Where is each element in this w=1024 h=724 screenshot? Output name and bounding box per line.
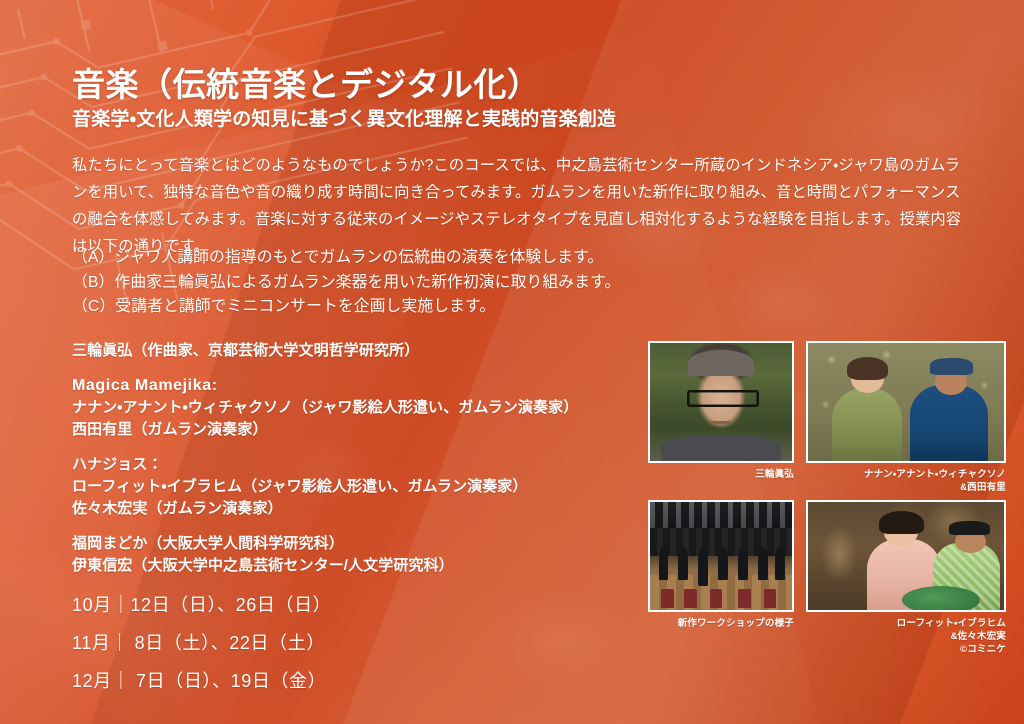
instructor-group-label: ハナジョス： bbox=[72, 454, 578, 476]
photo-frame bbox=[806, 341, 1006, 463]
instructor-name: 福岡まどか（大阪大学人間科学研究科） bbox=[72, 533, 578, 555]
decorative-shape bbox=[678, 547, 688, 579]
instructor-list: 三輪眞弘（作曲家、京都芸術大学文明哲学研究所） Magica Mamejika:… bbox=[72, 340, 578, 590]
workshop-photo-image bbox=[650, 502, 792, 610]
photo-caption: 新作ワークショップの様子 bbox=[648, 617, 794, 630]
course-description: 私たちにとって音楽とはどのようなものでしょうか?このコースでは、中之島芸術センタ… bbox=[72, 152, 962, 260]
course-content-list: （A）ジャワ人講師の指導のもとでガムランの伝統曲の演奏を体験します。 （B）作曲… bbox=[72, 246, 620, 320]
poster-content: 音楽（伝統音楽とデジタル化） 音楽学・文化人類学の知見に基づく異文化理解と実践的… bbox=[0, 0, 1024, 724]
decorative-shape bbox=[910, 385, 988, 461]
decorative-shape bbox=[661, 589, 674, 607]
decorative-shape bbox=[718, 547, 728, 579]
decorative-shape bbox=[738, 547, 748, 579]
photo-caption: ナナン・アナント・ウィチャクソノ&西田有里 bbox=[806, 468, 1006, 494]
decorative-shape bbox=[738, 589, 751, 607]
schedule-row: 11月｜ 8日（土）、22日（土） bbox=[72, 624, 331, 662]
decorative-shape bbox=[832, 388, 903, 461]
nanang-nishida-portrait-image bbox=[808, 343, 1004, 461]
instructor-name: 伊東信宏（大阪大学中之島芸術センター/人文学研究科） bbox=[72, 555, 578, 577]
instructor-name: 西田有里（ガムラン演奏家） bbox=[72, 419, 578, 441]
instructor-group: Magica Mamejika: ナナン・アナント・ウィチャクソノ（ジャワ影絵人… bbox=[72, 375, 578, 441]
schedule-row: 10月｜12日（日）、26日（日） bbox=[72, 586, 331, 624]
instructor-name: 佐々木宏実（ガムラン演奏家） bbox=[72, 498, 578, 520]
photo-cell-nanang-nishida-portrait: ナナン・アナント・ウィチャクソノ&西田有里 bbox=[806, 341, 1006, 494]
rofit-sasaki-portrait-image bbox=[808, 502, 1004, 610]
decorative-shape bbox=[659, 547, 669, 579]
instructor-name: ナナン・アナント・ウィチャクソノ（ジャワ影絵人形遣い、ガムラン演奏家） bbox=[72, 397, 578, 419]
page-subtitle: 音楽学・文化人類学の知見に基づく異文化理解と実践的音楽創造 bbox=[72, 104, 616, 131]
decorative-shape bbox=[684, 589, 697, 607]
decorative-shape bbox=[930, 358, 973, 375]
photo-cell-rofit-sasaki-portrait: ローフィット・イブラヒム&佐々木宏実©コミニケ bbox=[806, 500, 1006, 656]
decorative-shape bbox=[775, 547, 785, 579]
miwa-masahiro-portrait-image bbox=[650, 343, 792, 461]
decorative-shape bbox=[698, 547, 708, 586]
photo-frame bbox=[648, 500, 794, 612]
page-title: 音楽（伝統音楽とデジタル化） bbox=[72, 58, 540, 106]
decorative-shape bbox=[758, 547, 768, 579]
decorative-shape bbox=[902, 586, 980, 612]
photo-frame bbox=[648, 341, 794, 463]
photo-cell-miwa-masahiro-portrait: 三輪眞弘 bbox=[648, 341, 794, 494]
list-item: （C）受講者と講師でミニコンサートを企画し実施します。 bbox=[72, 295, 620, 320]
instructor-group-label: Magica Mamejika: bbox=[72, 375, 578, 397]
instructor-group: 三輪眞弘（作曲家、京都芸術大学文明哲学研究所） bbox=[72, 340, 578, 362]
photo-grid: 三輪眞弘 ナナン・アナント・ウィチャクソノ&西田有里 bbox=[648, 341, 1006, 656]
instructor-group: ハナジョス： ローフィット・イブラヒム（ジャワ影絵人形遣い、ガムラン演奏家） 佐… bbox=[72, 454, 578, 520]
decorative-shape bbox=[879, 511, 924, 535]
list-item: （A）ジャワ人講師の指導のもとでガムランの伝統曲の演奏を体験します。 bbox=[72, 246, 620, 271]
decorative-shape bbox=[650, 502, 792, 530]
decorative-shape bbox=[688, 350, 753, 376]
photo-caption: ローフィット・イブラヒム&佐々木宏実©コミニケ bbox=[806, 617, 1006, 656]
decorative-shape bbox=[764, 589, 777, 607]
decorative-shape bbox=[949, 521, 990, 535]
photo-caption: 三輪眞弘 bbox=[648, 468, 794, 481]
schedule-row: 12月｜ 7日（日）、19日（金） bbox=[72, 662, 331, 700]
instructor-group: 福岡まどか（大阪大学人間科学研究科） 伊東信宏（大阪大学中之島芸術センター/人文… bbox=[72, 533, 578, 577]
decorative-shape bbox=[710, 589, 723, 607]
schedule-list: 10月｜12日（日）、26日（日） 11月｜ 8日（土）、22日（土） 12月｜… bbox=[72, 586, 331, 700]
photo-cell-workshop-photo: 新作ワークショップの様子 bbox=[648, 500, 794, 656]
photo-frame bbox=[806, 500, 1006, 612]
instructor-name: ローフィット・イブラヒム（ジャワ影絵人形遣い、ガムラン演奏家） bbox=[72, 476, 578, 498]
decorative-shape bbox=[711, 421, 731, 425]
instructor-name: 三輪眞弘（作曲家、京都芸術大学文明哲学研究所） bbox=[72, 340, 578, 362]
list-item: （B）作曲家三輪眞弘によるガムラン楽器を用いた新作初演に取り組みます。 bbox=[72, 271, 620, 296]
poster-canvas: 音楽（伝統音楽とデジタル化） 音楽学・文化人類学の知見に基づく異文化理解と実践的… bbox=[0, 0, 1024, 724]
decorative-shape bbox=[847, 357, 888, 379]
